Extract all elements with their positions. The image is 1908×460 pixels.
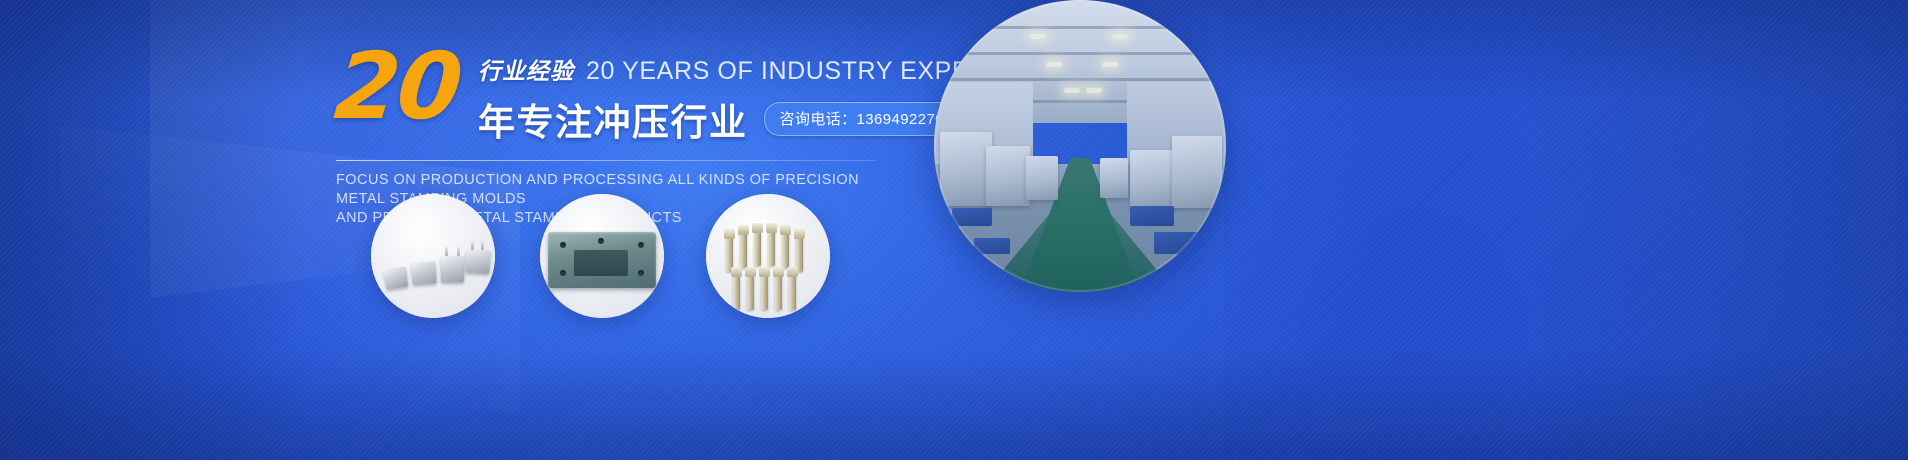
terminal-pin — [775, 272, 782, 310]
mold-hole — [560, 270, 566, 276]
mold-hole — [638, 242, 644, 248]
terminal-pin — [761, 272, 768, 310]
terminal-pin — [789, 272, 796, 310]
years-number: 20 — [332, 44, 465, 125]
product-circle-mold[interactable] — [540, 194, 664, 318]
terminal-pin — [733, 272, 740, 310]
connector-part — [441, 256, 464, 282]
connector-pin — [457, 247, 460, 256]
connector-part — [411, 261, 436, 285]
connector-part — [384, 267, 409, 290]
connector-pin — [481, 241, 484, 250]
terminal-pin — [768, 228, 775, 266]
photo-blue-tint — [934, 0, 1226, 292]
terminal-pin — [754, 228, 761, 266]
mold-hole — [638, 270, 644, 276]
connector-pin — [445, 247, 448, 256]
connector-part — [465, 249, 491, 274]
headline-row: 20 行业经验 20 YEARS OF INDUSTRY EXPERIENCE … — [336, 44, 896, 146]
terminal-pin — [782, 230, 789, 268]
stamping-mold — [548, 232, 656, 288]
mold-hole — [560, 242, 566, 248]
promo-banner: 20 行业经验 20 YEARS OF INDUSTRY EXPERIENCE … — [0, 0, 1908, 460]
connector-pin — [471, 241, 474, 250]
factory-workshop-photo[interactable] — [934, 0, 1226, 292]
product-circle-terminals[interactable] — [706, 194, 830, 318]
headline-divider — [336, 160, 876, 161]
headline-cn-large: 年专注冲压行业 — [478, 92, 748, 146]
terminal-pin — [747, 272, 754, 310]
product-circle-connectors[interactable] — [371, 194, 495, 318]
headline-cn-small: 行业经验 — [478, 52, 574, 86]
terminal-pin — [740, 230, 747, 268]
photo-content — [934, 0, 1226, 292]
mold-hole — [598, 238, 604, 244]
